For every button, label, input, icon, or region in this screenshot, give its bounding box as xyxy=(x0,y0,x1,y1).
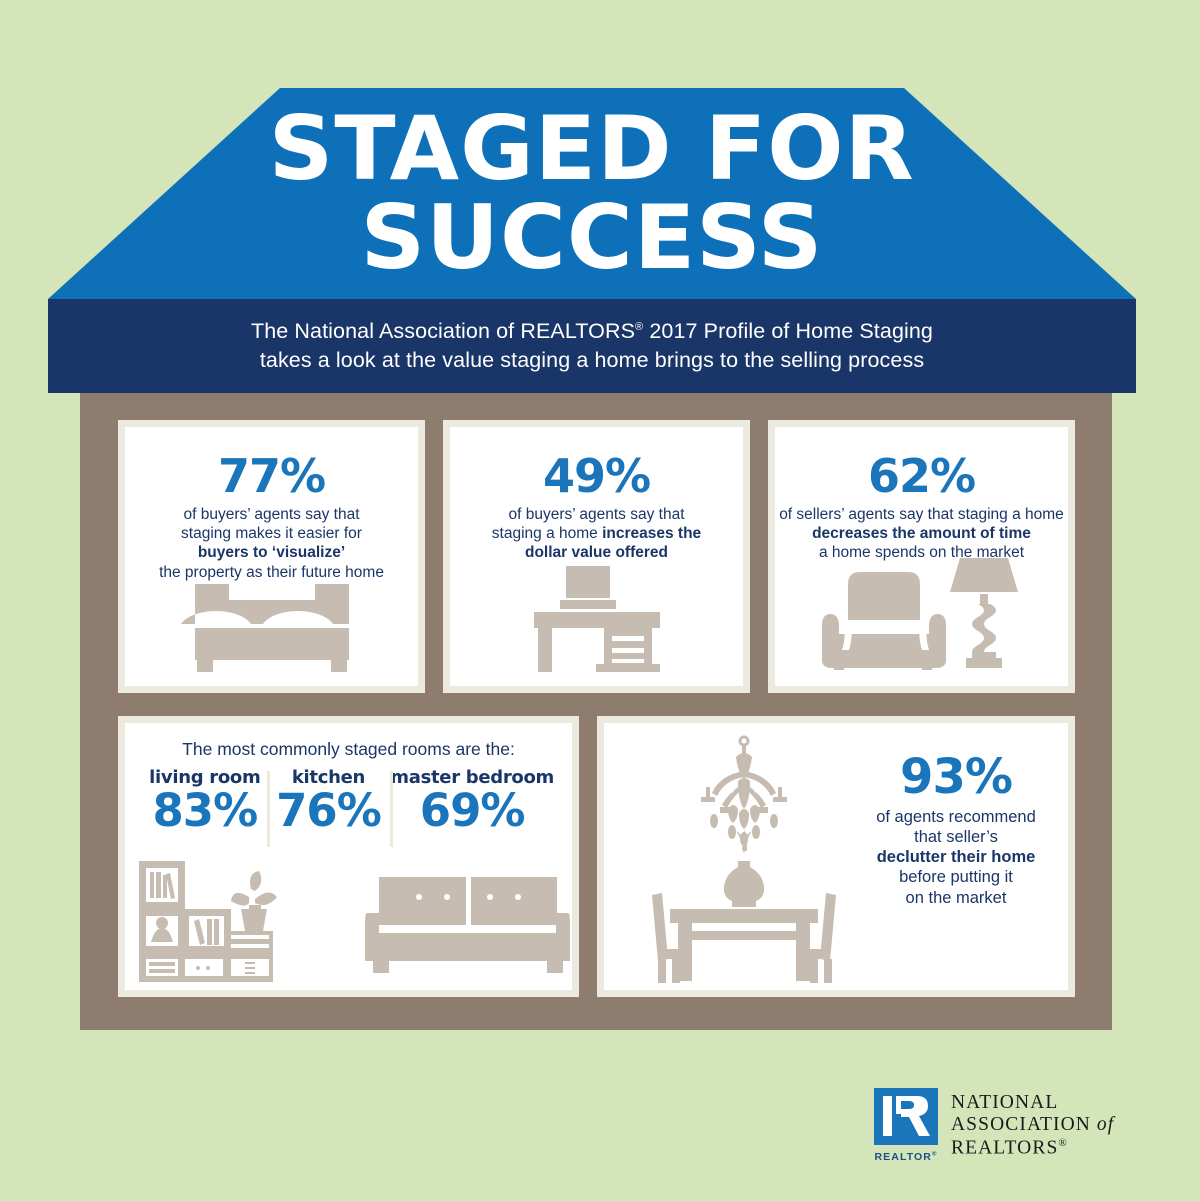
roof-shape xyxy=(48,88,1136,299)
stat-line-2-bold: increases the xyxy=(602,525,701,542)
logo-line-2b: of xyxy=(1097,1114,1114,1135)
subtitle-pre: The National Association of REALTORS xyxy=(251,319,635,343)
logo-line-1: NATIONAL xyxy=(951,1092,1114,1115)
declutter-card: 93% of agents recommend that seller’s de… xyxy=(597,716,1075,997)
stat-line-3-bold: buyers to ‘visualize’ xyxy=(198,544,345,561)
realtor-r-glyph xyxy=(874,1088,938,1145)
bed-icon xyxy=(125,580,418,672)
realtor-word-text: REALTOR xyxy=(874,1151,931,1163)
stat-line-4: before putting it xyxy=(899,868,1013,886)
sofa-icon xyxy=(365,873,570,978)
subtitle-post: 2017 Profile of Home Staging xyxy=(643,319,933,343)
stat-line-1: of sellers’ agents say that staging a ho… xyxy=(779,506,1064,523)
stat-line-2: that seller’s xyxy=(914,828,998,846)
bookshelf-icon xyxy=(137,859,277,984)
realtor-word-sup: ® xyxy=(932,1152,938,1158)
stat-card-dollar-value: 49% of buyers’ agents say that staging a… xyxy=(443,420,750,693)
stat-description: of buyers’ agents say that staging makes… xyxy=(135,505,408,582)
stat-text-block: 77% of buyers’ agents say that staging m… xyxy=(135,453,408,582)
logo-line-2: ASSOCIATION of xyxy=(951,1114,1114,1137)
rooms-heading: The most commonly staged rooms are the: xyxy=(125,739,572,760)
room-value: 69% xyxy=(420,788,525,835)
desk-icon xyxy=(450,564,743,674)
stat-line-1: of buyers’ agents say that xyxy=(508,506,684,523)
stat-description: of agents recommend that seller’s declut… xyxy=(854,807,1058,908)
stat-line-2-bold: decreases the amount of time xyxy=(812,525,1031,542)
stat-percent: 62% xyxy=(779,453,1064,499)
stat-percent: 49% xyxy=(458,453,735,499)
subtitle-band: The National Association of REALTORS® 20… xyxy=(48,299,1136,393)
rooms-bar-row: living room 83% kitchen 76% master bedro… xyxy=(143,767,554,853)
room-value: 76% xyxy=(276,788,381,835)
staged-rooms-card: The most commonly staged rooms are the: … xyxy=(118,716,579,997)
stat-line-1: of agents recommend xyxy=(876,808,1036,826)
infographic-canvas: STAGED FOR SUCCESS The National Associat… xyxy=(0,0,1200,1201)
subtitle-line-1: The National Association of REALTORS® 20… xyxy=(251,317,933,346)
nar-logo: REALTOR® NATIONAL ASSOCIATION of REALTOR… xyxy=(874,1088,1084,1164)
logo-line-3: REALTORS® xyxy=(951,1137,1114,1160)
stat-line-3-bold: dollar value offered xyxy=(525,544,668,561)
room-item-kitchen: kitchen 76% xyxy=(267,767,391,853)
stat-text-block: 49% of buyers’ agents say that staging a… xyxy=(458,453,735,563)
nar-logo-text: NATIONAL ASSOCIATION of REALTORS® xyxy=(951,1092,1114,1160)
realtor-wordmark: REALTOR® xyxy=(874,1151,938,1163)
realtor-mark-icon: REALTOR® xyxy=(874,1088,938,1164)
room-item-living-room: living room 83% xyxy=(143,767,267,853)
stat-percent: 77% xyxy=(135,453,408,499)
logo-line-3-sup: ® xyxy=(1058,1137,1067,1149)
stat-line-5: on the market xyxy=(906,889,1007,907)
subtitle-line-2: takes a look at the value staging a home… xyxy=(260,346,924,375)
stat-description: of buyers’ agents say that staging a hom… xyxy=(458,505,735,563)
stat-text-block: 62% of sellers’ agents say that staging … xyxy=(779,453,1064,563)
stat-card-time-on-market: 62% of sellers’ agents say that staging … xyxy=(768,420,1075,693)
stat-card-buyers-visualize: 77% of buyers’ agents say that staging m… xyxy=(118,420,425,693)
stat-line-2-pre: staging a home xyxy=(492,525,602,542)
armchair-lamp-icon xyxy=(775,554,1068,672)
stat-percent: 93% xyxy=(854,753,1058,801)
room-item-master-bedroom: master bedroom 69% xyxy=(390,767,554,853)
dining-scene-icons xyxy=(644,735,844,990)
stat-line-3-bold: declutter their home xyxy=(877,848,1036,866)
stat-text-block: 93% of agents recommend that seller’s de… xyxy=(854,753,1058,908)
room-value: 83% xyxy=(152,788,257,835)
logo-line-3-text: REALTORS xyxy=(951,1138,1058,1159)
stat-line-1: of buyers’ agents say that xyxy=(183,506,359,523)
stat-line-4: the property as their future home xyxy=(159,564,384,581)
logo-line-2a: ASSOCIATION xyxy=(951,1114,1097,1135)
stat-line-2: staging makes it easier for xyxy=(181,525,362,542)
